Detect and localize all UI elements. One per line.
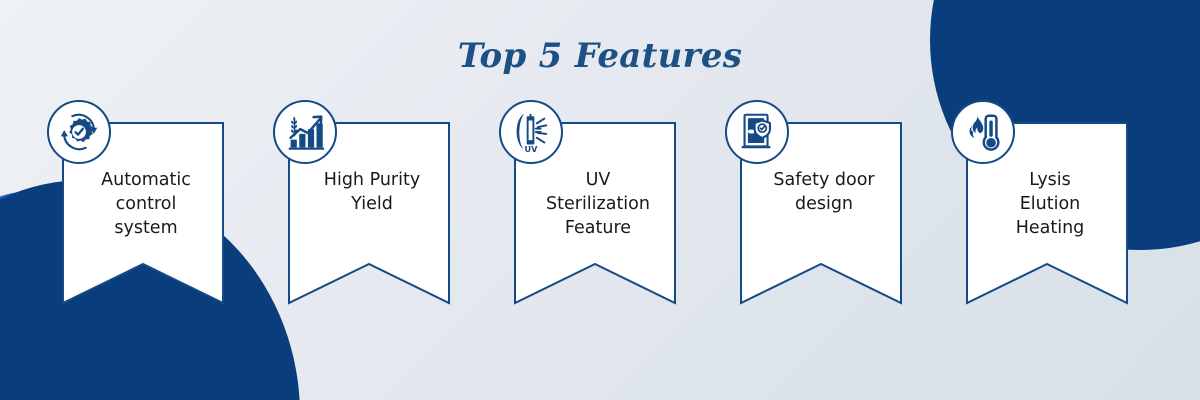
feature-card[interactable]: Lysis Elution Heating — [957, 100, 1147, 305]
thermometer-flame-icon — [960, 109, 1006, 155]
uv-lamp-icon: UV — [508, 109, 554, 155]
uv-icon-text: UV — [525, 144, 539, 154]
feature-card-label: Lysis Elution Heating — [979, 168, 1121, 240]
feature-card-label: Automatic control system — [75, 168, 217, 240]
feature-icon-badge — [47, 100, 111, 164]
gear-check-cycle-icon — [56, 109, 102, 155]
page-title: Top 5 Features — [0, 36, 1200, 76]
feature-icon-badge — [725, 100, 789, 164]
feature-icon-badge — [273, 100, 337, 164]
feature-card[interactable]: High Purity Yield — [279, 100, 469, 305]
feature-icon-badge: UV — [499, 100, 563, 164]
feature-card-label: High Purity Yield — [301, 168, 443, 216]
door-shield-icon — [734, 109, 780, 155]
feature-card-label: Safety door design — [753, 168, 895, 216]
feature-icon-badge — [951, 100, 1015, 164]
feature-card[interactable]: Automatic control system — [53, 100, 243, 305]
feature-card[interactable]: Safety door design — [731, 100, 921, 305]
feature-card[interactable]: UV Sterilization Feature — [505, 100, 695, 305]
feature-card-list: Automatic control system — [0, 100, 1200, 305]
growth-chart-wheat-icon — [282, 109, 328, 155]
infographic-canvas: Top 5 Features Automatic control system — [0, 0, 1200, 400]
feature-card-label: UV Sterilization Feature — [527, 168, 669, 240]
